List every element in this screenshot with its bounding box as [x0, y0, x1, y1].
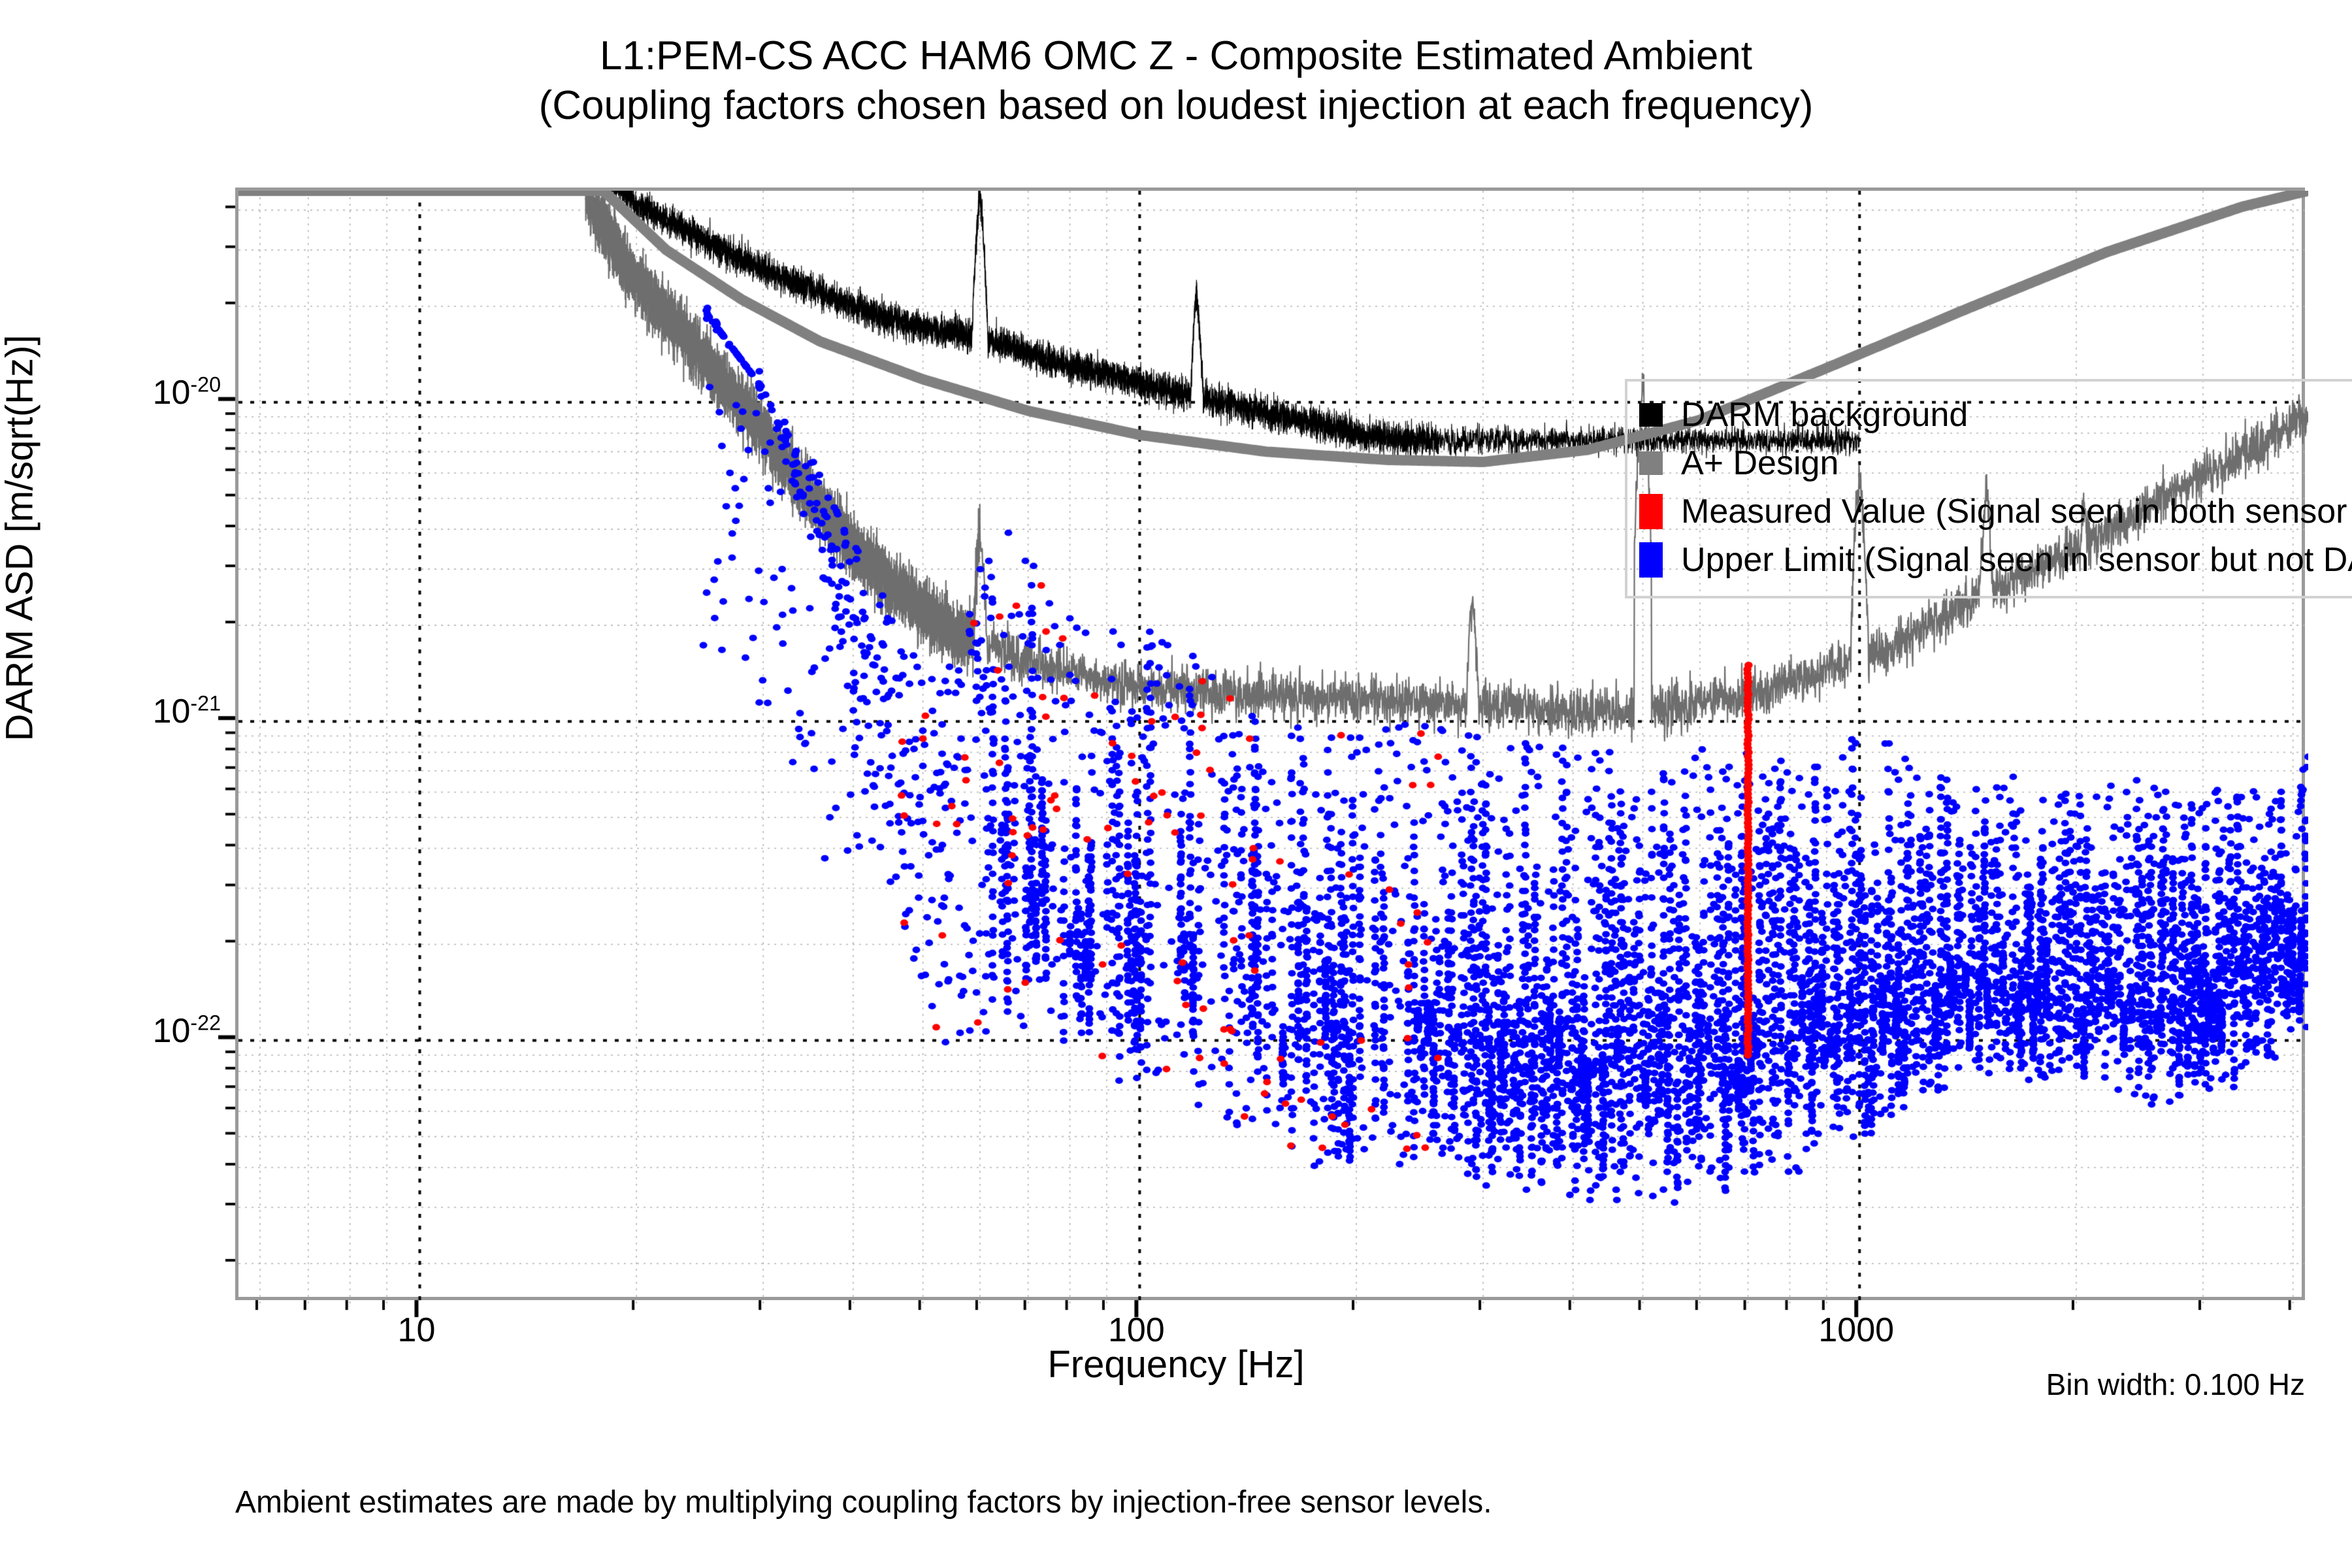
- y-axis-label: DARM ASD [m/sqrt(Hz)]: [0, 146, 42, 930]
- chart-title-block: L1:PEM-CS ACC HAM6 OMC Z - Composite Est…: [0, 31, 2352, 130]
- legend-label-measured-value: Measured Value (Signal seen in both sens…: [1681, 492, 2352, 531]
- y-tick-label: 10-21: [153, 694, 221, 728]
- legend-item-darm-background: DARM background: [1639, 391, 2352, 439]
- legend-swatch-measured-value: [1639, 494, 1663, 529]
- y-tick-label: 10-20: [153, 376, 221, 410]
- x-tick-label: 1000: [1818, 1311, 1894, 1350]
- legend-label-a-plus-design: A+ Design: [1681, 444, 1838, 483]
- legend-swatch-darm-background: [1639, 403, 1663, 427]
- footer-note: Ambient estimates are made by multiplyin…: [235, 1484, 1492, 1520]
- legend-label-upper-limit: Upper Limit (Signal seen in sensor but n…: [1681, 540, 2352, 580]
- x-tick-label: 100: [1108, 1311, 1165, 1350]
- legend-swatch-a-plus-design: [1639, 451, 1663, 475]
- chart-title-line-2: (Coupling factors chosen based on loudes…: [0, 81, 2352, 131]
- plot-area: DARM background A+ Design Measured Value…: [235, 188, 2305, 1300]
- y-tick-label: 10-22: [153, 1014, 221, 1048]
- x-tick-label: 10: [398, 1311, 436, 1350]
- x-axis-label: Frequency [Hz]: [0, 1343, 2352, 1386]
- legend-item-a-plus-design: A+ Design: [1639, 439, 2352, 487]
- figure-root: L1:PEM-CS ACC HAM6 OMC Z - Composite Est…: [0, 0, 2352, 1568]
- legend-item-upper-limit: Upper Limit (Signal seen in sensor but n…: [1639, 536, 2352, 584]
- plot-canvas: [238, 191, 2308, 1303]
- chart-title-line-1: L1:PEM-CS ACC HAM6 OMC Z - Composite Est…: [0, 31, 2352, 81]
- bin-width-note: Bin width: 0.100 Hz: [2046, 1367, 2305, 1402]
- legend-item-measured-value: Measured Value (Signal seen in both sens…: [1639, 487, 2352, 536]
- legend-swatch-upper-limit: [1639, 542, 1663, 578]
- legend-label-darm-background: DARM background: [1681, 395, 1968, 434]
- chart-legend: DARM background A+ Design Measured Value…: [1625, 379, 2352, 598]
